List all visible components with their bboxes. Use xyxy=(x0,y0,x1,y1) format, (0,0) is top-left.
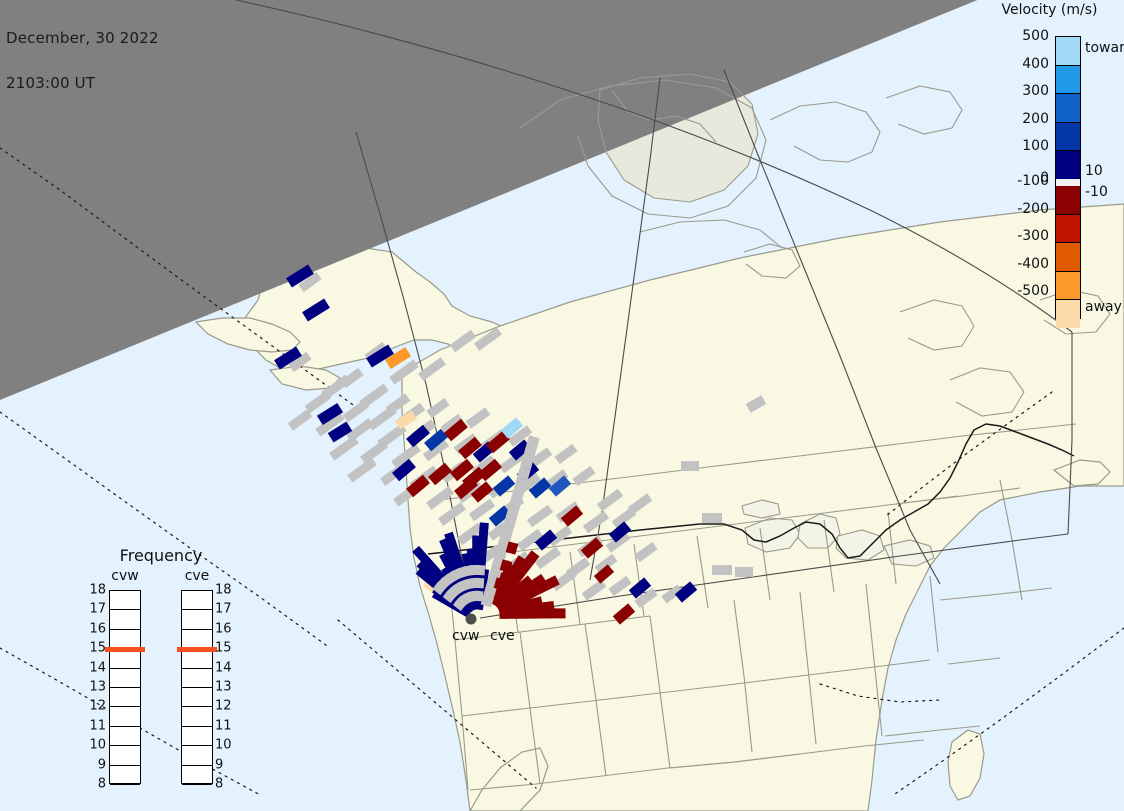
frequency-tick-label: 9 xyxy=(215,757,239,772)
frequency-tick-label: 12 xyxy=(215,699,239,714)
colorbar-tick-label: 300 xyxy=(1003,83,1049,99)
frequency-cell xyxy=(110,746,140,765)
frequency-legend: Frequency cvw cve 1818171716161515141413… xyxy=(88,546,234,786)
colorbar-segment xyxy=(1056,94,1080,123)
frequency-tick-label: 17 xyxy=(82,602,106,617)
colorbar-tick-label: 500 xyxy=(1003,28,1049,44)
timestamp: December, 30 2022 2103:00 UT xyxy=(6,1,159,121)
frequency-bar-cvw xyxy=(109,590,141,784)
beam-cell xyxy=(543,608,554,618)
frequency-tick-label: 8 xyxy=(215,777,239,792)
frequency-column-header-cvw: cvw xyxy=(98,568,152,584)
beam-cell xyxy=(521,609,532,619)
colorbar-tick-label: -500 xyxy=(1003,283,1049,299)
frequency-marker xyxy=(177,647,217,652)
frequency-cell xyxy=(110,707,140,726)
frequency-cell xyxy=(182,766,212,785)
beam-cell xyxy=(478,532,488,544)
frequency-cell xyxy=(110,727,140,746)
frequency-tick-label: 14 xyxy=(215,660,239,675)
colorbar-segment xyxy=(1056,215,1080,244)
ground-scatter-cell xyxy=(681,461,699,471)
frequency-tick-label: 13 xyxy=(215,680,239,695)
frequency-cell xyxy=(110,649,140,668)
beam-cell xyxy=(554,608,565,618)
beam-cell xyxy=(477,552,487,564)
radar-site-marker xyxy=(466,614,477,625)
frequency-cell xyxy=(182,591,212,610)
colorbar-tick-label: -200 xyxy=(1003,201,1049,217)
beam-cell xyxy=(532,609,543,619)
beam-cell xyxy=(510,609,521,619)
frequency-cell xyxy=(182,649,212,668)
frequency-cell xyxy=(182,688,212,707)
frequency-tick-label: 12 xyxy=(82,699,106,714)
frequency-cell xyxy=(110,669,140,688)
colorbar-segment xyxy=(1056,66,1080,95)
frequency-tick-label: 10 xyxy=(215,738,239,753)
colorbar-tick-label: 100 xyxy=(1003,138,1049,154)
frequency-tick-label: 15 xyxy=(215,641,239,656)
colorbar-segment xyxy=(1056,123,1080,152)
colorbar-tick-label: -100 xyxy=(1003,173,1049,189)
beam-cell xyxy=(475,578,485,589)
beam-cell xyxy=(474,591,484,602)
frequency-tick-label: 18 xyxy=(82,583,106,598)
colorbar-segment xyxy=(1056,243,1080,272)
frequency-tick-label: 15 xyxy=(82,641,106,656)
frequency-cell xyxy=(110,766,140,785)
ground-scatter-cell xyxy=(712,565,732,575)
frequency-cell xyxy=(182,707,212,726)
frequency-tick-label: 8 xyxy=(82,777,106,792)
colorbar-segment xyxy=(1056,151,1080,179)
frequency-bar-cve xyxy=(181,590,213,784)
radar-map-figure: December, 30 2022 2103:00 UT Velocity (m… xyxy=(0,0,1124,811)
frequency-cell xyxy=(182,669,212,688)
beam-cell xyxy=(476,565,486,576)
timestamp-time: 2103:00 UT xyxy=(6,76,159,91)
colorbar-segment xyxy=(1056,300,1080,328)
frequency-tick-label: 18 xyxy=(215,583,239,598)
colorbar-segment xyxy=(1056,186,1080,215)
colorbar-tick-label: -300 xyxy=(1003,228,1049,244)
colorbar-lower-threshold: -10 xyxy=(1085,184,1108,200)
frequency-cell xyxy=(110,688,140,707)
frequency-tick-label: 14 xyxy=(82,660,106,675)
ground-scatter-cell xyxy=(735,567,753,577)
frequency-tick-label: 16 xyxy=(82,621,106,636)
frequency-cell xyxy=(182,727,212,746)
frequency-title: Frequency xyxy=(88,546,234,565)
colorbar-segment xyxy=(1056,37,1080,66)
colorbar-segment xyxy=(1056,272,1080,301)
frequency-tick-label: 11 xyxy=(82,718,106,733)
frequency-cell xyxy=(110,591,140,610)
frequency-tick-label: 11 xyxy=(215,718,239,733)
colorbar-toward-label: toward xyxy=(1085,40,1124,56)
frequency-tick-label: 9 xyxy=(82,757,106,772)
colorbar-upper-threshold: 10 xyxy=(1085,163,1103,179)
velocity-colorbar: Velocity (m/s) 5004003002001000-100-200-… xyxy=(975,0,1124,340)
frequency-tick-label: 13 xyxy=(82,680,106,695)
timestamp-date: December, 30 2022 xyxy=(6,31,159,46)
beam-cell xyxy=(479,522,489,534)
frequency-tick-label: 17 xyxy=(215,602,239,617)
frequency-tick-label: 10 xyxy=(82,738,106,753)
colorbar-ticks: 5004003002001000-100-200-300-400-500 xyxy=(997,0,1049,340)
beam-cell xyxy=(477,542,487,554)
beam-cell xyxy=(499,609,510,619)
frequency-cell xyxy=(182,746,212,765)
frequency-cell xyxy=(110,610,140,629)
frequency-marker xyxy=(105,647,145,652)
ground-scatter-cell xyxy=(702,513,722,523)
colorbar-tick-label: 200 xyxy=(1003,111,1049,127)
colorbar-tick-label: 400 xyxy=(1003,56,1049,72)
colorbar-segment xyxy=(1056,179,1080,186)
colorbar-away-label: away xyxy=(1085,299,1122,315)
colorbar-tick-label: -400 xyxy=(1003,256,1049,272)
frequency-cell xyxy=(182,610,212,629)
site-label-cvw: cvw xyxy=(452,628,479,644)
site-label-cve: cve xyxy=(490,628,515,644)
colorbar-strip xyxy=(1055,36,1081,319)
frequency-tick-label: 16 xyxy=(215,621,239,636)
